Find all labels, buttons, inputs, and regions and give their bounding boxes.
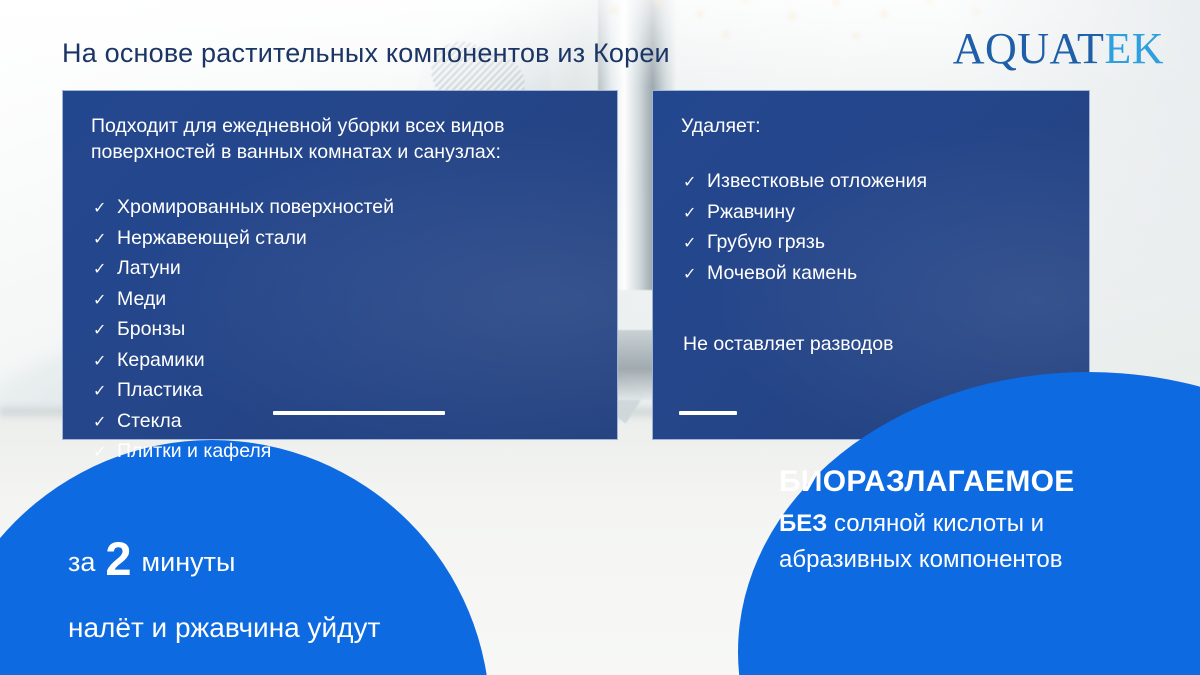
list-item: ✓Нержавеющей стали bbox=[93, 224, 617, 255]
check-icon: ✓ bbox=[683, 230, 707, 259]
eco-badge-text-block: БИОРАЗЛАГАЕМОЕ БЕЗ соляной кислоты и абр… bbox=[779, 462, 1189, 578]
list-item: ✓Ржавчину bbox=[683, 198, 1089, 229]
aquatek-logo: AQUATEK bbox=[953, 27, 1164, 71]
panel-divider-rule bbox=[273, 411, 445, 415]
surface-item-label: Хромированных поверхностей bbox=[117, 193, 394, 222]
surface-item-label: Латуни bbox=[117, 254, 181, 283]
list-item: ✓Бронзы bbox=[93, 315, 617, 346]
time-badge-number: 2 bbox=[95, 532, 141, 585]
panel-divider-rule bbox=[679, 411, 737, 415]
time-badge-headline: за2минуты bbox=[68, 542, 235, 579]
eco-badge-line-2-bold: БЕЗ bbox=[779, 510, 827, 537]
removes-item-label: Мочевой камень bbox=[707, 259, 857, 288]
list-item: ✓Пластика bbox=[93, 376, 617, 407]
eco-badge-line-2-rest: соляной кислоты и bbox=[827, 510, 1044, 537]
check-icon: ✓ bbox=[683, 261, 707, 290]
removes-item-label: Ржавчину bbox=[707, 198, 795, 227]
check-icon: ✓ bbox=[93, 195, 117, 224]
check-icon: ✓ bbox=[93, 439, 117, 468]
surface-item-label: Керамики bbox=[117, 346, 205, 375]
check-icon: ✓ bbox=[683, 200, 707, 229]
removes-panel-heading: Удаляет: bbox=[681, 113, 1061, 139]
logo-text-primary: AQUAT bbox=[953, 24, 1105, 73]
surface-item-label: Нержавеющей стали bbox=[117, 224, 307, 253]
check-icon: ✓ bbox=[93, 256, 117, 285]
page-title: На основе растительных компонентов из Ко… bbox=[62, 38, 670, 69]
time-badge-prefix: за bbox=[68, 547, 95, 577]
surface-item-label: Бронзы bbox=[117, 315, 185, 344]
surfaces-panel: Подходит для ежедневной уборки всех видо… bbox=[62, 90, 618, 440]
list-item: ✓Меди bbox=[93, 285, 617, 316]
surface-item-label: Пластика bbox=[117, 376, 203, 405]
slide-canvas: На основе растительных компонентов из Ко… bbox=[0, 0, 1200, 675]
removes-item-label: Грубую грязь bbox=[707, 228, 825, 257]
list-item: ✓Плитки и кафеля bbox=[93, 437, 617, 468]
list-item: ✓Хромированных поверхностей bbox=[93, 193, 617, 224]
no-streaks-note: Не оставляет разводов bbox=[683, 333, 1089, 356]
removes-item-label: Известковые отложения bbox=[707, 167, 927, 196]
surface-item-label: Меди bbox=[117, 285, 166, 314]
eco-badge-title: БИОРАЗЛАГАЕМОЕ bbox=[779, 462, 1189, 502]
check-icon: ✓ bbox=[93, 226, 117, 255]
list-item: ✓Мочевой камень bbox=[683, 259, 1089, 290]
check-icon: ✓ bbox=[93, 317, 117, 346]
check-icon: ✓ bbox=[93, 409, 117, 438]
removes-list: ✓Известковые отложения✓Ржавчину✓Грубую г… bbox=[683, 167, 1089, 289]
check-icon: ✓ bbox=[93, 378, 117, 407]
check-icon: ✓ bbox=[93, 287, 117, 316]
check-icon: ✓ bbox=[683, 169, 707, 198]
surface-item-label: Стекла bbox=[117, 407, 182, 436]
list-item: ✓Известковые отложения bbox=[683, 167, 1089, 198]
list-item: ✓Грубую грязь bbox=[683, 228, 1089, 259]
check-icon: ✓ bbox=[93, 348, 117, 377]
time-badge-subtitle: налёт и ржавчина уйдут bbox=[68, 612, 380, 644]
surfaces-list: ✓Хромированных поверхностей✓Нержавеющей … bbox=[93, 193, 617, 468]
eco-badge-line-2: БЕЗ соляной кислоты и bbox=[779, 506, 1189, 542]
logo-text-secondary: EK bbox=[1104, 24, 1164, 73]
surfaces-panel-heading: Подходит для ежедневной уборки всех видо… bbox=[91, 113, 591, 165]
time-badge-unit: минуты bbox=[142, 547, 236, 577]
eco-badge-line-3: абразивных компонентов bbox=[779, 542, 1189, 578]
list-item: ✓Керамики bbox=[93, 346, 617, 377]
list-item: ✓Латуни bbox=[93, 254, 617, 285]
surface-item-label: Плитки и кафеля bbox=[117, 437, 271, 466]
